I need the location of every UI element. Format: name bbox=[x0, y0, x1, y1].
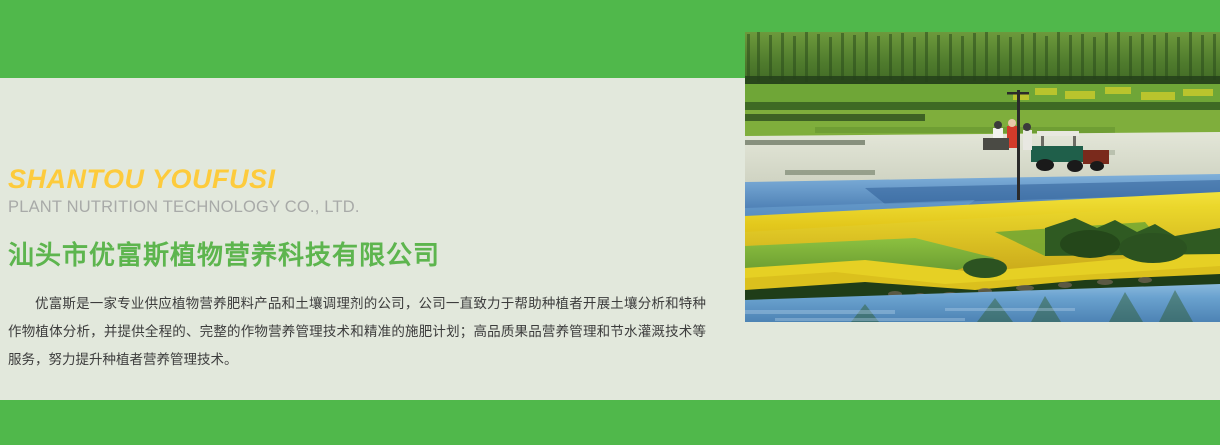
brand-name-chinese: 汕头市优富斯植物营养科技有限公司 bbox=[8, 238, 440, 273]
company-profile-page: SHANTOU YOUFUSI PLANT NUTRITION TECHNOLO… bbox=[0, 0, 1220, 445]
brand-subtitle-english: PLANT NUTRITION TECHNOLOGY CO., LTD. bbox=[8, 199, 360, 216]
bottom-green-band bbox=[0, 400, 1220, 445]
brand-name-english: SHANTOU YOUFUSI bbox=[8, 166, 276, 193]
rice-paddy-photo bbox=[745, 32, 1220, 322]
company-intro-section: SHANTOU YOUFUSI PLANT NUTRITION TECHNOLO… bbox=[0, 78, 740, 400]
company-intro-paragraph: 优富斯是一家专业供应植物营养肥料产品和土壤调理剂的公司，公司一直致力于帮助种植者… bbox=[8, 290, 706, 374]
